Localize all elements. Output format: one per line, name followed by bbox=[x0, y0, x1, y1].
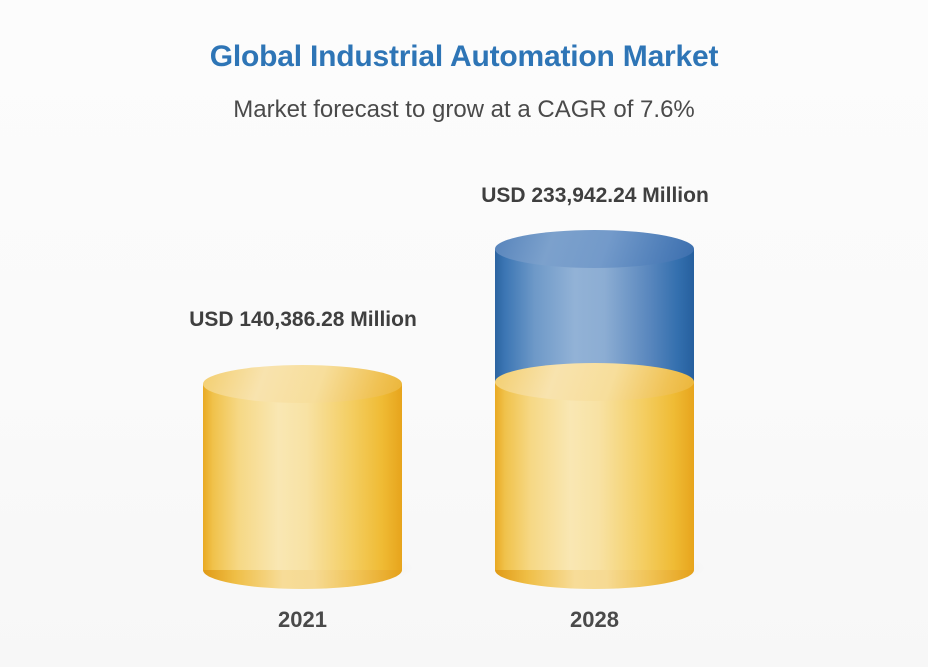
chart-title: Global Industrial Automation Market bbox=[0, 40, 928, 74]
bar-2021[interactable] bbox=[203, 384, 402, 570]
cylinder-divider-2028 bbox=[495, 363, 694, 401]
cylinder-body-2021 bbox=[203, 384, 402, 570]
category-label-2028: 2028 bbox=[495, 607, 694, 633]
chart-canvas: Global Industrial Automation Market Mark… bbox=[0, 0, 928, 667]
bar-segment-2021-base bbox=[203, 384, 402, 570]
cylinder-top-2021 bbox=[203, 365, 402, 403]
cylinder-top-2028-growth bbox=[495, 230, 694, 268]
value-label-2028: USD 233,942.24 Million bbox=[395, 184, 795, 208]
cylinder-body-2028-base bbox=[495, 382, 694, 570]
category-label-2021: 2021 bbox=[203, 607, 402, 633]
bar-2028[interactable] bbox=[495, 249, 694, 570]
bar-segment-2028-base bbox=[495, 382, 694, 570]
chart-subtitle: Market forecast to grow at a CAGR of 7.6… bbox=[0, 96, 928, 124]
value-label-2021: USD 140,386.28 Million bbox=[103, 308, 503, 332]
